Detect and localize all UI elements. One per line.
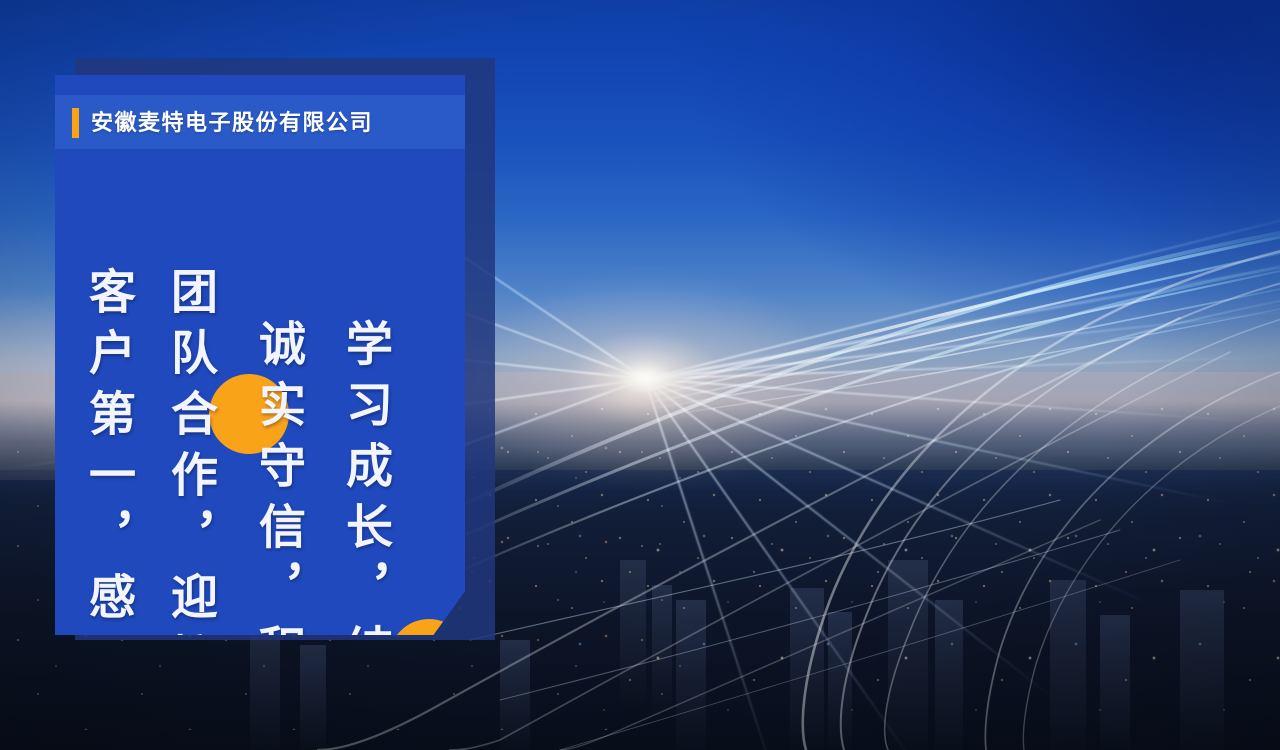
slogan-columns: 客户第一，感恩奉献 团队合作，迎接变化 诚实守信，积极向上 学习成长，结果为王 xyxy=(55,179,465,635)
poster-canvas: 安徽麦特电子股份有限公司 客户第一，感恩奉献 团队合作，迎接变化 诚实守信，积极… xyxy=(0,0,1280,750)
company-slogan-card: 安徽麦特电子股份有限公司 客户第一，感恩奉献 团队合作，迎接变化 诚实守信，积极… xyxy=(55,75,465,635)
page-title: 安徽麦特电子股份有限公司 xyxy=(91,103,373,143)
title-accent-bar xyxy=(72,108,79,138)
